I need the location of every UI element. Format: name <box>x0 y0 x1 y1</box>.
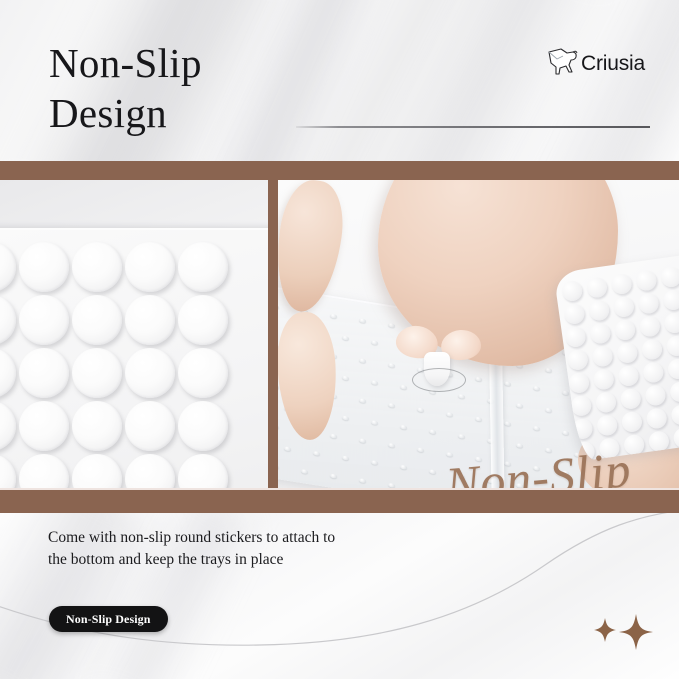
sticker-dot <box>72 348 122 398</box>
sheet-bump <box>586 276 609 299</box>
photo-strip <box>0 180 679 490</box>
tray-dot <box>359 358 366 363</box>
header-light-streak-3 <box>359 0 611 161</box>
sheet-bump <box>587 299 610 322</box>
tray-dot <box>278 304 279 309</box>
sheet-bump <box>662 289 679 312</box>
sheet-bump <box>594 391 617 414</box>
tray-dot <box>533 466 540 471</box>
tray-dot <box>458 434 465 439</box>
tray-dot <box>475 416 482 421</box>
sticker-dot <box>0 401 16 451</box>
brand-name: Criusia <box>581 53 645 74</box>
sheet-bump <box>591 345 614 368</box>
tray-dot <box>371 460 378 465</box>
product-photo-right <box>278 180 679 490</box>
tray-dot <box>371 340 378 345</box>
tray-dot <box>516 403 523 408</box>
sticker-dot <box>19 454 69 490</box>
tray-dot <box>359 398 366 403</box>
tray-dot <box>533 426 540 431</box>
sheet-bump <box>667 358 679 381</box>
sparkle-group <box>592 614 654 650</box>
tray-dot <box>278 464 279 469</box>
tray-dot <box>301 469 308 474</box>
tray-dot <box>417 447 424 452</box>
tray-dot <box>330 434 337 439</box>
tray-dot <box>342 335 349 340</box>
sheet-bump <box>589 322 612 345</box>
brown-band-bottom <box>0 490 679 513</box>
sheet-bump <box>596 414 619 437</box>
sticker-dot <box>0 454 16 490</box>
brown-band-top <box>0 161 679 180</box>
sheet-bump <box>617 365 640 388</box>
tray-dot <box>359 478 366 483</box>
tray-dot <box>330 474 337 479</box>
sheet-bump <box>660 266 679 289</box>
sheet-bump <box>670 404 679 427</box>
sticker-dot <box>0 348 16 398</box>
sticker-dot <box>72 295 122 345</box>
tray-dot <box>429 429 436 434</box>
sticker-dot <box>0 295 16 345</box>
sticker-dot <box>125 454 175 490</box>
tray-dot <box>562 390 569 395</box>
tray-dot <box>359 318 366 323</box>
sheet-bump <box>610 273 633 296</box>
tray-dot <box>504 421 511 426</box>
sheet-bump <box>568 372 591 395</box>
sheet-bump <box>598 437 621 460</box>
sticker-dot <box>125 348 175 398</box>
sheet-bump <box>614 319 637 342</box>
tray-dot <box>330 314 337 319</box>
sheet-bump <box>635 269 658 292</box>
sheet-bump <box>569 395 592 418</box>
tray-dot <box>400 425 407 430</box>
tray-dot <box>458 394 465 399</box>
page-title: Non-Slip Design <box>49 38 379 138</box>
tray-dot <box>342 375 349 380</box>
sticker-dot <box>178 401 228 451</box>
status-badge[interactable]: Non-Slip Design <box>49 606 168 632</box>
tray-dot <box>545 408 552 413</box>
band-bottom-hairline <box>0 488 679 490</box>
tray-dot <box>342 455 349 460</box>
sheet-bump <box>637 292 660 315</box>
product-photo-left <box>0 180 268 490</box>
sticker-dot <box>19 401 69 451</box>
sheet-bump <box>665 335 679 358</box>
tray-dot <box>284 446 291 451</box>
tray-dot <box>562 470 569 475</box>
tray-dot <box>388 403 395 408</box>
tray-dot <box>388 443 395 448</box>
brand-logo: Criusia <box>545 46 645 74</box>
sheet-bump <box>645 407 668 430</box>
sheet-bump <box>616 342 639 365</box>
status-badge-label: Non-Slip Design <box>66 612 151 627</box>
sheet-bump <box>642 361 665 384</box>
sheet-bump <box>564 326 587 349</box>
tray-dot <box>429 469 436 474</box>
sheet-bump <box>644 384 667 407</box>
sticker-dot <box>125 401 175 451</box>
sheet-bump <box>639 315 662 338</box>
sticker-sheet-flat <box>0 228 268 490</box>
tray-dot <box>342 415 349 420</box>
page-title-line-2: Design <box>49 88 379 138</box>
sticker-dot <box>125 242 175 292</box>
tray-dot <box>400 465 407 470</box>
header-divider-rule <box>296 126 650 128</box>
sticker-dot <box>125 295 175 345</box>
sticker-dot <box>178 348 228 398</box>
header-light-streak-4 <box>550 0 679 161</box>
tray-dot <box>446 452 453 457</box>
tray-dot <box>400 385 407 390</box>
tray-dot <box>562 430 569 435</box>
sparkle-large-icon <box>619 614 653 650</box>
sticker-dot <box>19 348 69 398</box>
tray-dot <box>516 443 523 448</box>
product-feature-page: Non-Slip Design Criusia <box>0 0 679 679</box>
sheet-bump <box>592 368 615 391</box>
sheet-bump <box>621 411 644 434</box>
tray-dot <box>545 448 552 453</box>
description-line-1: Come with non-slip round stickers to att… <box>48 527 428 549</box>
sticker-dot <box>178 242 228 292</box>
sheet-bump <box>640 338 663 361</box>
sticker-dot <box>72 454 122 490</box>
tray-dot <box>475 456 482 461</box>
sheet-bump <box>619 388 642 411</box>
sticker-dot <box>19 295 69 345</box>
tray-dot <box>458 474 465 479</box>
sparkle-small-icon <box>594 618 616 642</box>
tray-dot <box>533 386 540 391</box>
tray-dot <box>359 438 366 443</box>
description-line-2: the bottom and keep the trays in place <box>48 549 428 571</box>
sticker-dot <box>72 242 122 292</box>
page-title-line-1: Non-Slip <box>49 38 379 88</box>
tray-dot <box>446 412 453 417</box>
sticker-placement-outline <box>412 368 466 392</box>
sticker-dot <box>178 454 228 490</box>
sticker-dot <box>19 242 69 292</box>
tray-dot <box>388 363 395 368</box>
sheet-bump <box>672 427 679 450</box>
header-section: Non-Slip Design Criusia <box>0 0 679 161</box>
sticker-dot <box>0 242 16 292</box>
sheet-bump <box>566 349 589 372</box>
sheet-bump <box>563 303 586 326</box>
sheet-bump <box>561 280 584 303</box>
sheet-bump <box>647 430 670 453</box>
sheet-bump <box>668 381 679 404</box>
tray-dot <box>504 381 511 386</box>
tray-dot <box>371 420 378 425</box>
tray-dot <box>388 323 395 328</box>
tray-dot <box>313 451 320 456</box>
tray-dot <box>417 407 424 412</box>
description-text: Come with non-slip round stickers to att… <box>48 527 428 571</box>
sheet-bump <box>663 312 679 335</box>
sheet-bump <box>612 296 635 319</box>
tray-dot <box>504 461 511 466</box>
tray-dot <box>371 380 378 385</box>
tray-dot <box>278 424 279 429</box>
tray-dot <box>475 376 482 381</box>
tray-dot <box>545 368 552 373</box>
sticker-dot <box>178 295 228 345</box>
sheet-bump <box>622 434 645 457</box>
sticker-dot <box>72 401 122 451</box>
kangaroo-logo-icon <box>545 46 579 76</box>
